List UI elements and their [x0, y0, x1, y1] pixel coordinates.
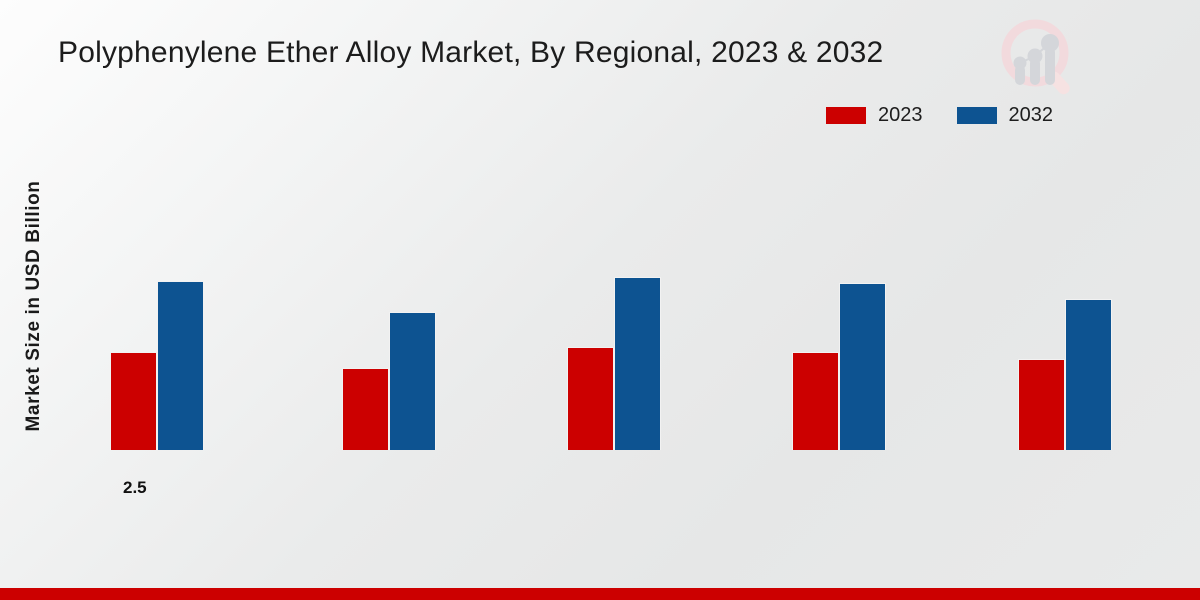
legend-item-2023[interactable]: 2023 [826, 104, 923, 127]
market-research-logo-watermark [995, 18, 1087, 98]
magnifier-ring-icon [1006, 24, 1072, 97]
bar-south-america-2023[interactable] [567, 347, 614, 450]
bars-middle-east-and-africa [1018, 150, 1112, 450]
legend-label-2023: 2023 [878, 104, 923, 127]
footer-accent-bar [0, 588, 1200, 600]
legend-swatch-2023 [826, 107, 866, 124]
bar-europe-2032[interactable] [389, 312, 436, 450]
bar-value-label-north-america-2023: 2.5 [123, 478, 147, 498]
bars-north-america [110, 150, 204, 450]
legend-item-2032[interactable]: 2032 [957, 104, 1054, 127]
bar-asia-pacific-2032[interactable] [839, 283, 886, 450]
bar-dots-icon [1014, 34, 1060, 85]
chart-legend: 2023 2032 [826, 104, 1053, 127]
chart-title: Polyphenylene Ether Alloy Market, By Reg… [58, 36, 883, 70]
bars-south-america [567, 150, 661, 450]
bar-middle-east-and-africa-2032[interactable] [1065, 299, 1112, 450]
legend-label-2032: 2032 [1009, 104, 1054, 127]
legend-swatch-2032 [957, 107, 997, 124]
plot-area: 2.5NORTHAMERICAEUROPESOUTHAMERICAASIAPAC… [40, 150, 1160, 450]
bars-asia-pacific [792, 150, 886, 450]
bar-middle-east-and-africa-2023[interactable] [1018, 359, 1065, 450]
bar-north-america-2023[interactable] [110, 352, 157, 450]
bar-north-america-2032[interactable] [157, 281, 204, 450]
bars-europe [342, 150, 436, 450]
bar-south-america-2032[interactable] [614, 277, 661, 450]
bar-asia-pacific-2023[interactable] [792, 352, 839, 450]
chart-figure: Polyphenylene Ether Alloy Market, By Reg… [0, 0, 1200, 600]
bar-europe-2023[interactable] [342, 368, 389, 450]
